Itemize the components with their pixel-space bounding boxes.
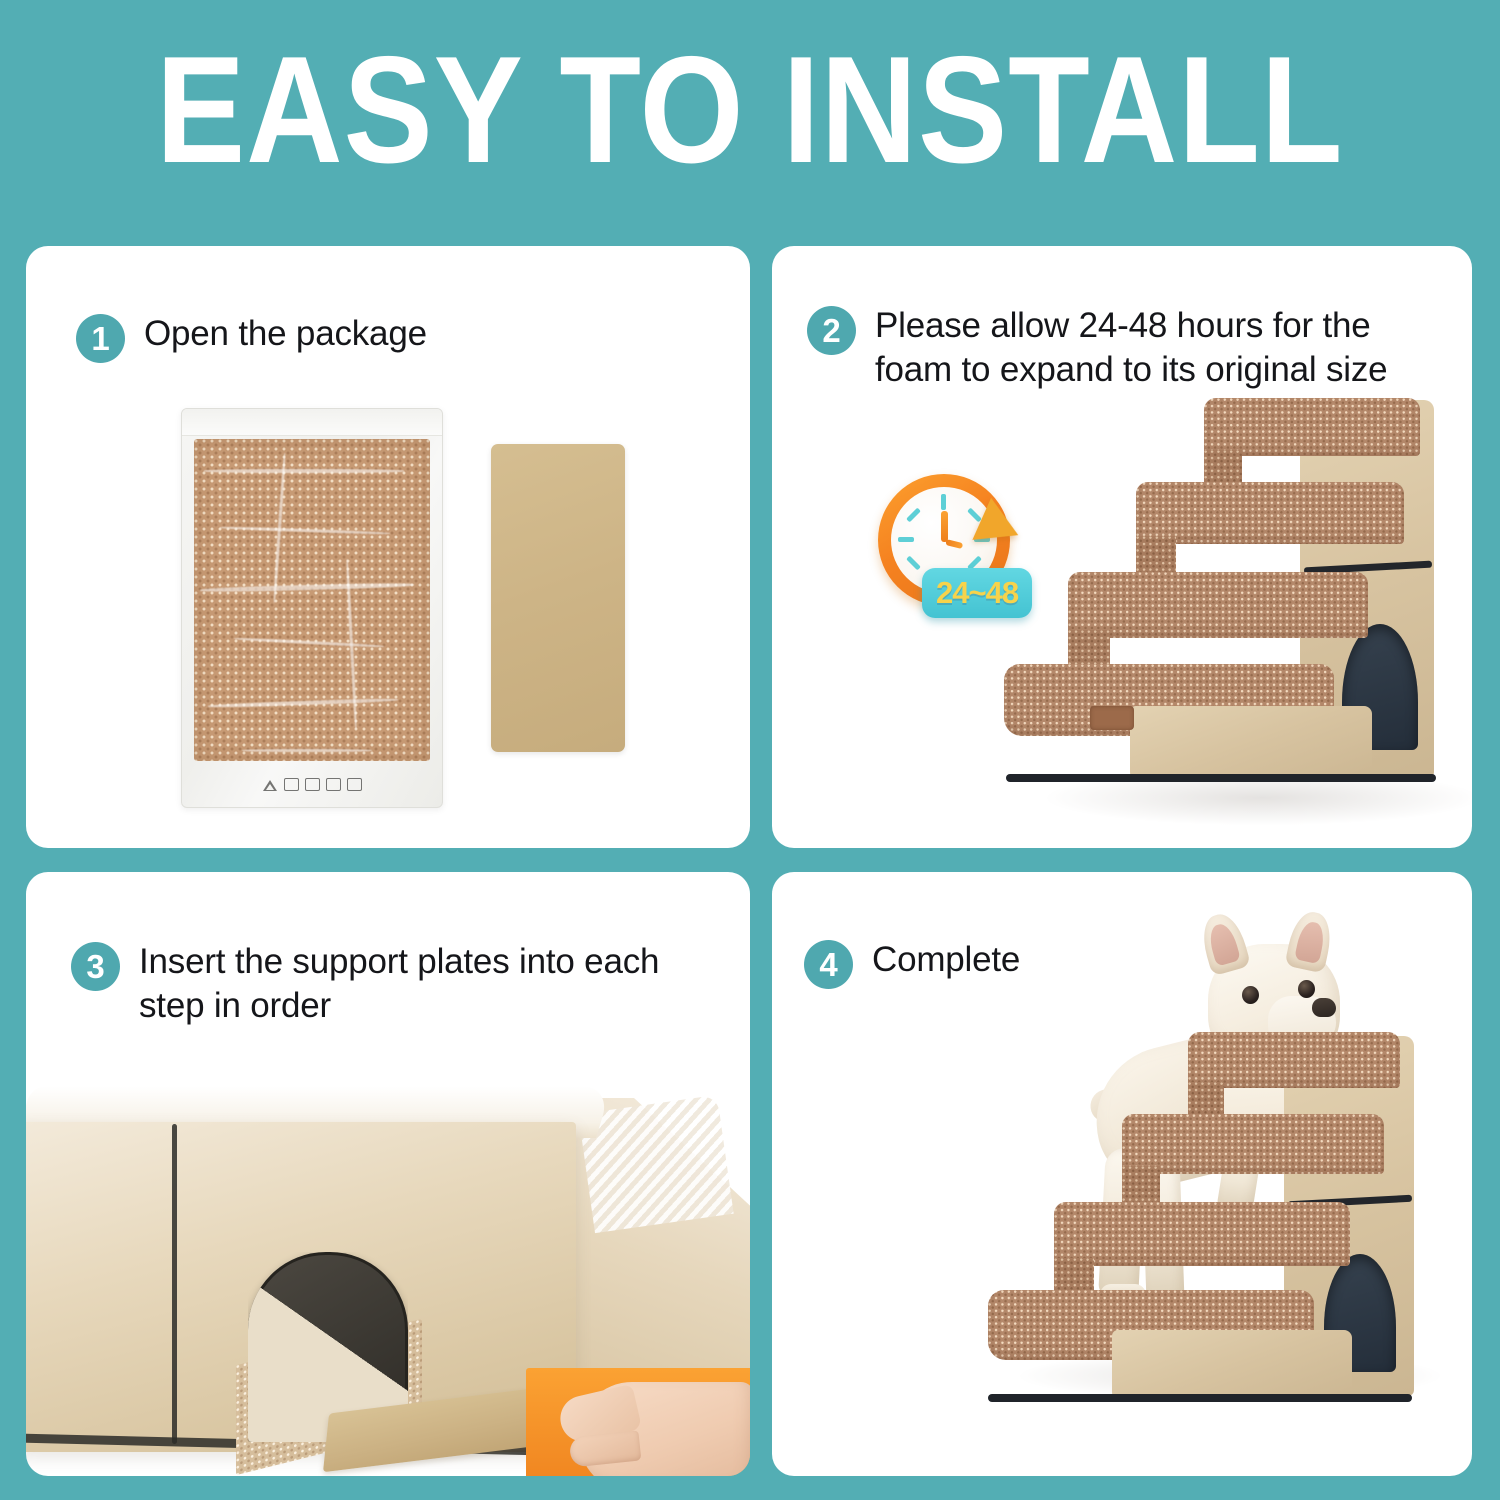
pet-stairs-product-image (1012, 376, 1472, 796)
step-1-header: 1 Open the package (76, 312, 676, 363)
cardboard-support-plate-icon (491, 444, 625, 752)
clock-hour-hand-icon (941, 511, 948, 542)
step-card-3: 3 Insert the support plates into each st… (26, 872, 750, 1476)
clock-minute-hand-icon (945, 539, 963, 549)
stair-tread-2 (1068, 572, 1368, 638)
step-1-text: Open the package (144, 312, 427, 356)
stairs-front-panel (1112, 1330, 1352, 1402)
hand-icon (526, 1368, 750, 1476)
step-3-illustration (26, 872, 750, 1476)
underside-corner-seam (172, 1124, 177, 1444)
dog-eye-right (1298, 980, 1315, 998)
stair-tread-4 (1188, 1032, 1400, 1088)
steps-grid: 1 Open the package 2 (26, 246, 1472, 1476)
stair-tread-3 (1136, 482, 1404, 544)
page-title: EASY TO INSTALL (156, 34, 1343, 194)
pet-stairs-product-image (984, 1022, 1454, 1422)
step-card-4: 4 Complete (772, 872, 1472, 1476)
stair-tread-3 (1122, 1114, 1384, 1174)
compressed-foam-icon (194, 439, 430, 761)
step-2-illustration: 24~48 (772, 246, 1472, 848)
step-4-illustration (772, 872, 1472, 1476)
stairs-base-trim (1006, 774, 1436, 782)
step-card-1: 1 Open the package (26, 246, 750, 848)
dog-nose (1312, 998, 1336, 1017)
step-1-illustration (26, 396, 750, 836)
stair-tread-4 (1204, 398, 1420, 456)
stair-tread-2 (1054, 1202, 1350, 1266)
dog-eye-left (1242, 986, 1259, 1004)
recycling-label-icon (262, 778, 362, 791)
step-card-2: 2 Please allow 24-48 hours for the foam … (772, 246, 1472, 848)
stairs-front-panel (1130, 706, 1372, 782)
brand-logo-tag (1090, 706, 1134, 730)
stairs-base-trim (988, 1394, 1412, 1402)
header-banner: EASY TO INSTALL (0, 0, 1500, 228)
vacuum-sealed-bag-icon (181, 408, 443, 808)
step-number-badge-1: 1 (76, 314, 125, 363)
